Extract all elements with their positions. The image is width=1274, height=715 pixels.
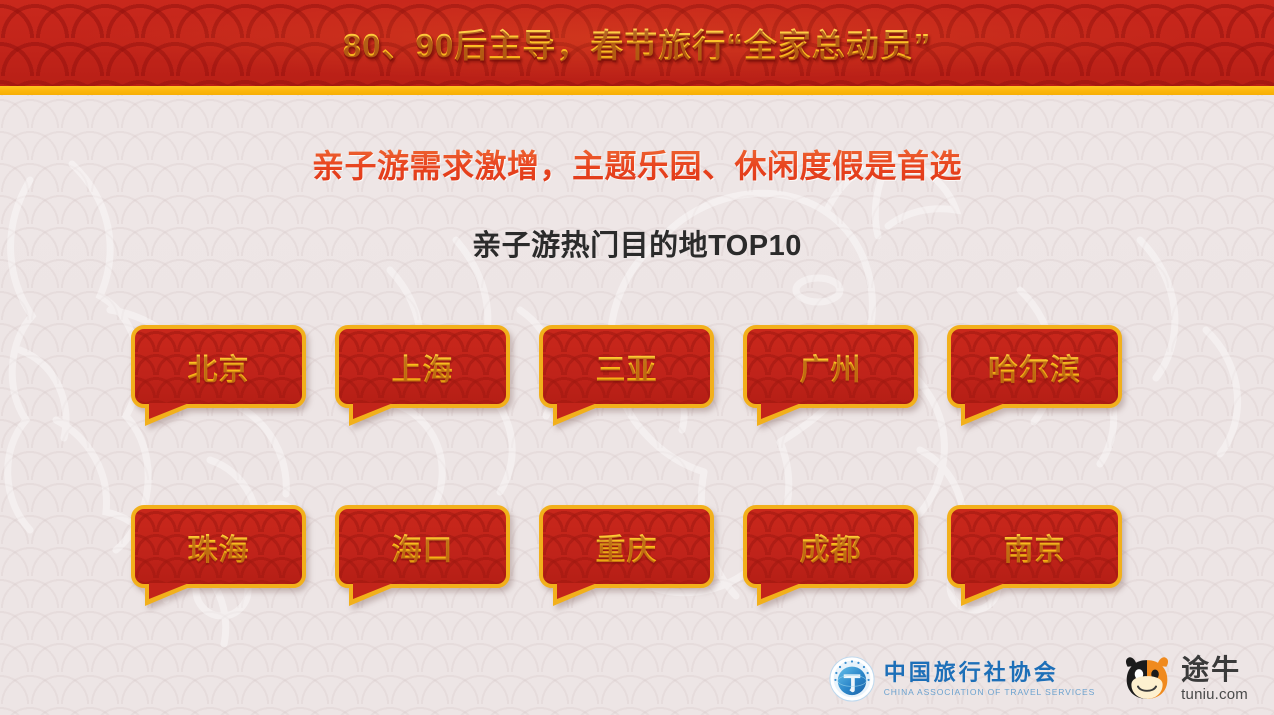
section-heading: 亲子游热门目的地TOP10 [0, 222, 1274, 264]
catS-text: 中国旅行社协会 CHINA ASSOCIATION OF TRAVEL SERV… [884, 661, 1095, 696]
destination-bubble[interactable]: 成都 [743, 505, 918, 588]
destination-bubble[interactable]: 北京 [131, 325, 306, 408]
destination-label: 广州 [800, 345, 862, 389]
catS-name-cn: 中国旅行社协会 [884, 661, 1095, 684]
header-banner: 80、90后主导，春节旅行“全家总动员” [0, 0, 1274, 86]
destination-row-2: 珠海 海口 重庆 成都 南京 [131, 505, 1122, 588]
bubble-tail-fill-icon [353, 403, 393, 419]
destination-label: 重庆 [596, 525, 658, 569]
destination-label: 三亚 [596, 345, 658, 389]
destination-bubble[interactable]: 哈尔滨 [947, 325, 1122, 408]
destination-label: 上海 [392, 345, 454, 389]
header-accent-bar [0, 86, 1274, 95]
bubble-body: 三亚 [539, 325, 714, 408]
bubble-body: 北京 [131, 325, 306, 408]
destination-label: 珠海 [188, 525, 250, 569]
bubble-tail-fill-icon [761, 583, 801, 599]
catS-logo: 中国旅行社协会 CHINA ASSOCIATION OF TRAVEL SERV… [829, 656, 1095, 702]
destination-label: 北京 [188, 345, 250, 389]
bubble-body: 珠海 [131, 505, 306, 588]
bubble-body: 重庆 [539, 505, 714, 588]
destination-label: 成都 [800, 525, 862, 569]
bubble-body: 哈尔滨 [947, 325, 1122, 408]
bubble-body: 广州 [743, 325, 918, 408]
destination-label: 哈尔滨 [988, 345, 1081, 389]
bubble-body: 成都 [743, 505, 918, 588]
infographic-slide: 80、90后主导，春节旅行“全家总动员” 亲子游需求激增，主题乐园、休闲度假是首… [0, 0, 1274, 715]
tuniu-text: 途牛 tuniu.com [1181, 655, 1248, 702]
bubble-tail-fill-icon [761, 403, 801, 419]
cow-mascot-icon [1121, 655, 1173, 703]
tuniu-name-en: tuniu.com [1181, 686, 1248, 703]
destination-bubble[interactable]: 上海 [335, 325, 510, 408]
bubble-tail-fill-icon [149, 583, 189, 599]
destination-bubble[interactable]: 广州 [743, 325, 918, 408]
footer-logos: 中国旅行社协会 CHINA ASSOCIATION OF TRAVEL SERV… [829, 655, 1248, 703]
bubble-tail-fill-icon [353, 583, 393, 599]
bubble-tail-fill-icon [965, 403, 1005, 419]
catS-name-en: CHINA ASSOCIATION OF TRAVEL SERVICES [884, 687, 1095, 697]
bubble-tail-fill-icon [965, 583, 1005, 599]
page-title: 80、90后主导，春节旅行“全家总动员” [343, 19, 931, 67]
destination-label: 南京 [1004, 525, 1066, 569]
bubble-tail-fill-icon [557, 583, 597, 599]
bubble-body: 海口 [335, 505, 510, 588]
globe-emblem-icon [829, 656, 875, 702]
destination-label: 海口 [392, 525, 454, 569]
destination-bubble[interactable]: 三亚 [539, 325, 714, 408]
bubble-body: 南京 [947, 505, 1122, 588]
destination-bubble[interactable]: 重庆 [539, 505, 714, 588]
bubble-tail-fill-icon [149, 403, 189, 419]
destination-row-1: 北京 上海 三亚 广州 哈尔滨 [131, 325, 1122, 408]
tuniu-name-cn: 途牛 [1181, 655, 1248, 684]
bubble-body: 上海 [335, 325, 510, 408]
destination-bubble[interactable]: 海口 [335, 505, 510, 588]
subtitle: 亲子游需求激增，主题乐园、休闲度假是首选 [0, 141, 1274, 187]
destination-bubble[interactable]: 南京 [947, 505, 1122, 588]
bubble-tail-fill-icon [557, 403, 597, 419]
destination-bubble[interactable]: 珠海 [131, 505, 306, 588]
tuniu-logo: 途牛 tuniu.com [1121, 655, 1248, 703]
